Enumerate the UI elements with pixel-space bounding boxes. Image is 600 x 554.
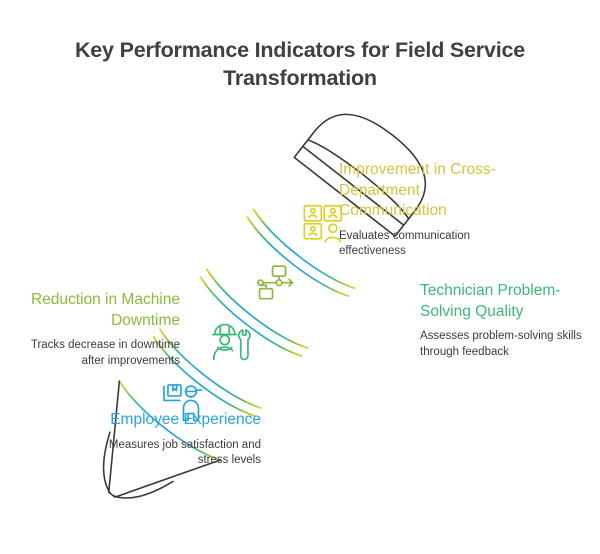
kpi-label-communication: Improvement in Cross-Department Communic… [339, 160, 514, 260]
technician-wrench-icon [213, 325, 250, 360]
workflow-diagram-icon [258, 266, 293, 299]
kpi-heading-employee: Employee Experience [96, 410, 261, 431]
kpi-description-employee: Measures job satisfaction and stress lev… [96, 438, 261, 469]
kpi-heading-communication: Improvement in Cross-Department Communic… [339, 160, 514, 222]
video-conference-grid-icon [304, 206, 341, 242]
kpi-description-technician: Assesses problem-solving skills through … [420, 329, 595, 360]
kpi-label-technician: Technician Problem-Solving Quality Asses… [420, 281, 595, 360]
kpi-label-downtime: Reduction in Machine Downtime Tracks dec… [20, 290, 180, 369]
pencil-infographic-figure [0, 0, 600, 554]
kpi-description-communication: Evaluates communication effectiveness [339, 229, 514, 260]
kpi-label-employee: Employee Experience Measures job satisfa… [96, 410, 261, 469]
kpi-heading-downtime: Reduction in Machine Downtime [20, 290, 180, 331]
kpi-heading-technician: Technician Problem-Solving Quality [420, 281, 595, 322]
kpi-description-downtime: Tracks decrease in downtime after improv… [20, 338, 180, 369]
